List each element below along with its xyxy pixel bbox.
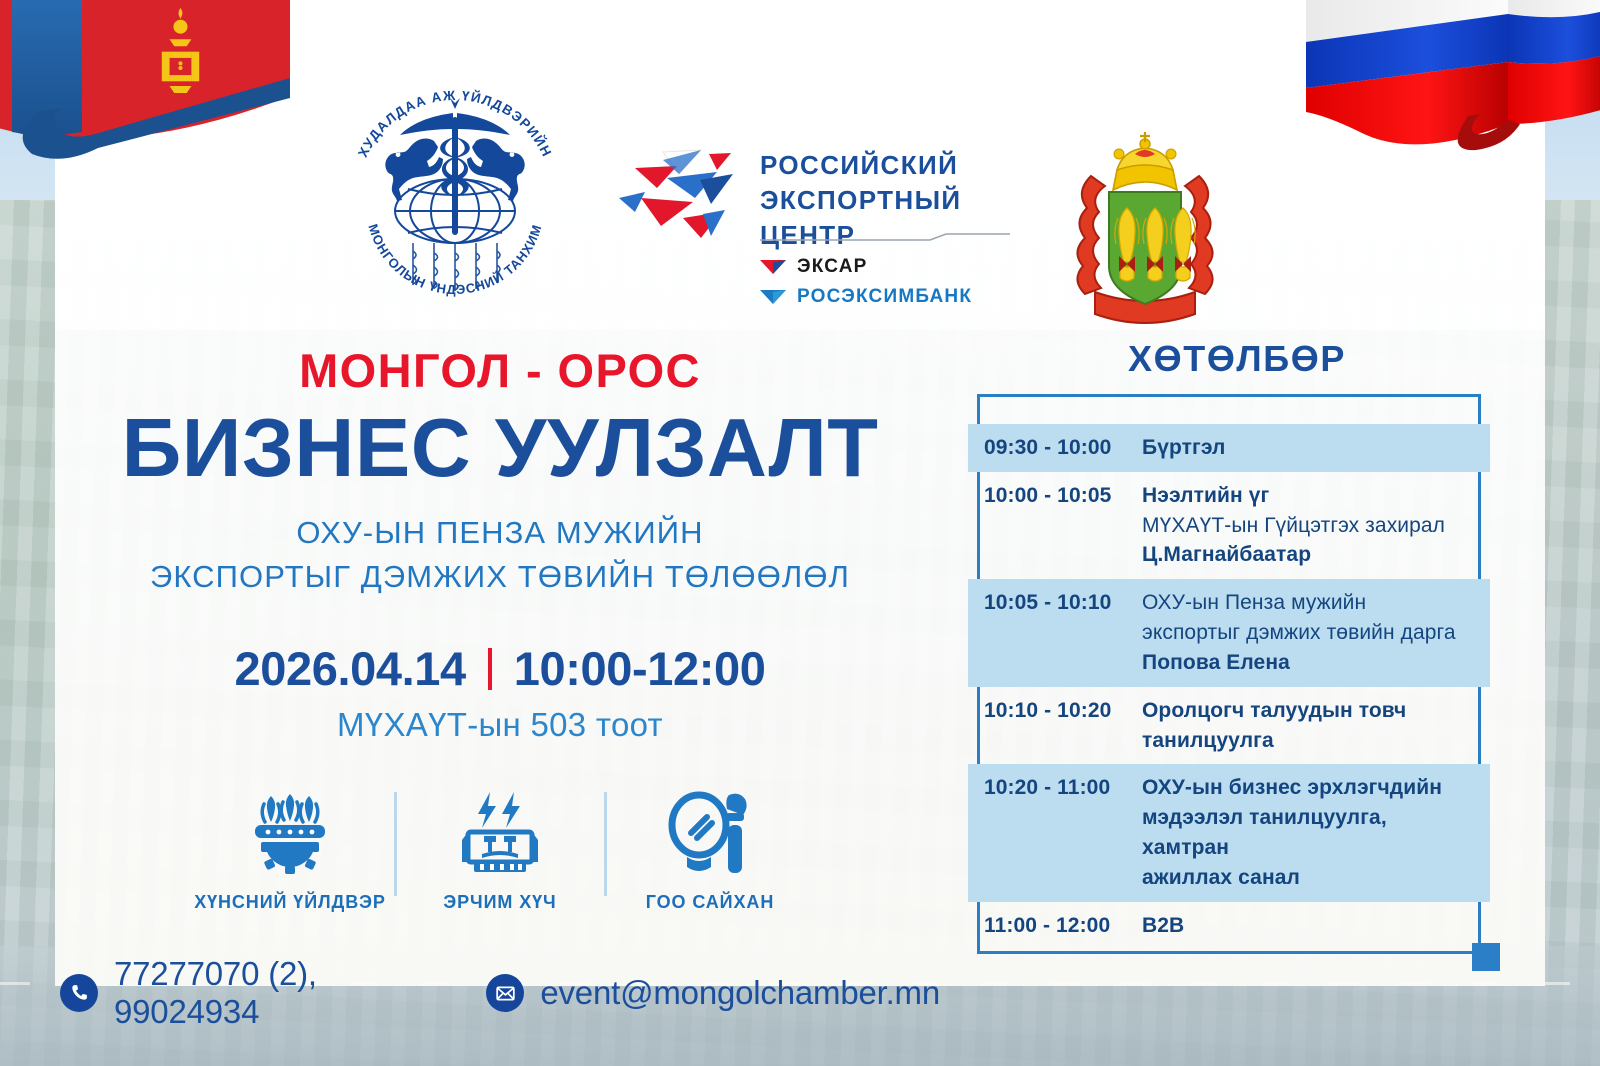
penza-coat-of-arms bbox=[1055, 130, 1235, 340]
category-row: ХҮНСНИЙ ҮЙЛДВЭР bbox=[60, 788, 940, 913]
envelope-icon bbox=[486, 974, 524, 1012]
schedule-row-line: Оролцогч талуудын товч bbox=[1142, 696, 1478, 726]
schedule-row-line: ОХУ-ын бизнес эрхлэгчдийн bbox=[1142, 773, 1478, 803]
contact-phone[interactable]: 77277070 (2), 99024934 bbox=[60, 955, 444, 1031]
contact-email[interactable]: event@mongolchamber.mn bbox=[486, 974, 940, 1012]
category-divider-2 bbox=[604, 792, 607, 896]
category-energy: ЭРЧИМ ХҮЧ bbox=[403, 788, 598, 913]
category-divider-1 bbox=[394, 792, 397, 896]
rec-roseximbank-row: РОСЭКСИМБАНК bbox=[760, 286, 972, 308]
date-time-divider bbox=[488, 648, 492, 690]
category-label-0: ХҮНСНИЙ ҮЙЛДВЭР bbox=[194, 892, 386, 913]
subtitle-line1: ОХУ-ЫН ПЕНЗА МУЖИЙН bbox=[60, 511, 940, 555]
category-beauty: ГОО САЙХАН bbox=[613, 788, 808, 913]
rec-exiar-row: ЭКСАР bbox=[760, 256, 972, 278]
schedule-row-line: Попова Елена bbox=[1142, 648, 1478, 678]
schedule-row-body: ОХУ-ын Пенза мужийнэкспортыг дэмжих төви… bbox=[1142, 588, 1490, 677]
mongolian-chamber-emblem: ХУДАЛДАА АЖ ҮЙЛДВЭРИЙН МОНГОЛЫН ҮНДЭСНИЙ… bbox=[330, 65, 580, 315]
schedule-row-line: Бүртгэл bbox=[1142, 433, 1478, 463]
date-time-row: 2026.04.14 10:00-12:00 bbox=[60, 641, 940, 696]
event-venue: МҮХАҮТ-ын 503 тоот bbox=[60, 706, 940, 744]
category-label-1: ЭРЧИМ ХҮЧ bbox=[443, 892, 556, 913]
phone-icon bbox=[60, 974, 98, 1012]
schedule-row-body: B2B bbox=[1142, 911, 1490, 941]
event-time: 10:00-12:00 bbox=[514, 641, 766, 696]
rec-divider bbox=[760, 232, 1010, 242]
rec-subbrands: ЭКСАР РОСЭКСИМБАНК bbox=[760, 248, 972, 308]
schedule-row-line: мэдээлэл танилцуулга, хамтран bbox=[1142, 803, 1478, 863]
schedule-row-time: 10:00 - 10:05 bbox=[984, 481, 1142, 570]
schedule-row-line: ОХУ-ын Пенза мужийн bbox=[1142, 588, 1478, 618]
schedule-row: 09:30 - 10:00Бүртгэл bbox=[968, 424, 1490, 472]
schedule-row: 11:00 - 12:00B2B bbox=[968, 902, 1490, 950]
exiar-triangle-icon bbox=[760, 260, 786, 275]
schedule-row: 10:00 - 10:05Нээлтийн үгМҮХАҮТ-ын Гүйцэт… bbox=[968, 472, 1490, 579]
schedule-row-line: Ц.Магнайбаатар bbox=[1142, 540, 1478, 570]
contact-email-text: event@mongolchamber.mn bbox=[540, 974, 940, 1012]
schedule-row-line: ажиллах санал bbox=[1142, 863, 1478, 893]
rec-exiar-label: ЭКСАР bbox=[797, 256, 868, 278]
page-title: БИЗНЕС УУЛЗАЛТ bbox=[60, 406, 940, 489]
schedule-row-time: 10:10 - 10:20 bbox=[984, 696, 1142, 756]
schedule-row-body: Нээлтийн үгМҮХАҮТ-ын Гүйцэтгэх захиралЦ.… bbox=[1142, 481, 1490, 570]
schedule-row: 10:20 - 11:00ОХУ-ын бизнес эрхлэгчдийнмэ… bbox=[968, 764, 1490, 901]
schedule-row-line: танилцуулга bbox=[1142, 726, 1478, 756]
schedule-row: 10:05 - 10:10ОХУ-ын Пенза мужийнэкспорты… bbox=[968, 579, 1490, 686]
schedule-row-line: экспортыг дэмжих төвийн дарга bbox=[1142, 618, 1478, 648]
wheat-gear-icon bbox=[247, 788, 333, 878]
schedule-title: ХӨТӨЛБӨР bbox=[977, 338, 1497, 380]
rec-triangles-mark bbox=[605, 140, 755, 280]
schedule-rows: 09:30 - 10:00Бүртгэл10:00 - 10:05Нээлтий… bbox=[968, 424, 1490, 949]
event-poster: ХУДАЛДАА АЖ ҮЙЛДВЭРИЙН МОНГОЛЫН ҮНДЭСНИЙ… bbox=[0, 0, 1600, 1066]
contact-row: 77277070 (2), 99024934 event@mongolchamb… bbox=[60, 955, 940, 1031]
category-food-industry: ХҮНСНИЙ ҮЙЛДВЭР bbox=[193, 788, 388, 913]
schedule-row-line: Нээлтийн үг bbox=[1142, 481, 1478, 511]
subtitle-line2: ЭКСПОРТЫГ ДЭМЖИХ ТӨВИЙН ТӨЛӨӨЛӨЛ bbox=[60, 555, 940, 599]
schedule-row-line: МҮХАҮТ-ын Гүйцэтгэх захирал bbox=[1142, 511, 1478, 541]
rec-title-line1: РОССИЙСКИЙ bbox=[760, 148, 1025, 183]
logo-row: ХУДАЛДАА АЖ ҮЙЛДВЭРИЙН МОНГОЛЫН ҮНДЭСНИЙ… bbox=[0, 55, 1600, 305]
schedule-row-body: ОХУ-ын бизнес эрхлэгчдийнмэдээлэл танилц… bbox=[1142, 773, 1490, 892]
russian-export-center-logo: РОССИЙСКИЙ ЭКСПОРТНЫЙ ЦЕНТР ЭКСАР bbox=[605, 140, 1025, 325]
schedule-row-time: 10:20 - 11:00 bbox=[984, 773, 1142, 892]
contact-phone-text: 77277070 (2), 99024934 bbox=[114, 955, 444, 1031]
mirror-brush-icon bbox=[667, 788, 753, 878]
schedule-row-time: 09:30 - 10:00 bbox=[984, 433, 1142, 463]
roseximbank-triangle-icon bbox=[760, 290, 786, 305]
schedule-row-time: 11:00 - 12:00 bbox=[984, 911, 1142, 941]
schedule-row-line: B2B bbox=[1142, 911, 1478, 941]
schedule-row-body: Оролцогч талуудын товчтанилцуулга bbox=[1142, 696, 1490, 756]
event-date: 2026.04.14 bbox=[235, 641, 466, 696]
schedule-row: 10:10 - 10:20Оролцогч талуудын товчтанил… bbox=[968, 687, 1490, 765]
category-label-2: ГОО САЙХАН bbox=[646, 892, 774, 913]
rec-roseximbank-label: РОСЭКСИМБАНК bbox=[797, 286, 972, 308]
schedule-row-time: 10:05 - 10:10 bbox=[984, 588, 1142, 677]
hero-block: МОНГОЛ - ОРОС БИЗНЕС УУЛЗАЛТ ОХУ-ЫН ПЕНЗ… bbox=[60, 330, 940, 1031]
power-plant-icon bbox=[460, 788, 540, 878]
schedule-row-body: Бүртгэл bbox=[1142, 433, 1490, 463]
rec-title-line2: ЭКСПОРТНЫЙ ЦЕНТР bbox=[760, 183, 1025, 253]
kicker-text: МОНГОЛ - ОРОС bbox=[60, 343, 940, 398]
